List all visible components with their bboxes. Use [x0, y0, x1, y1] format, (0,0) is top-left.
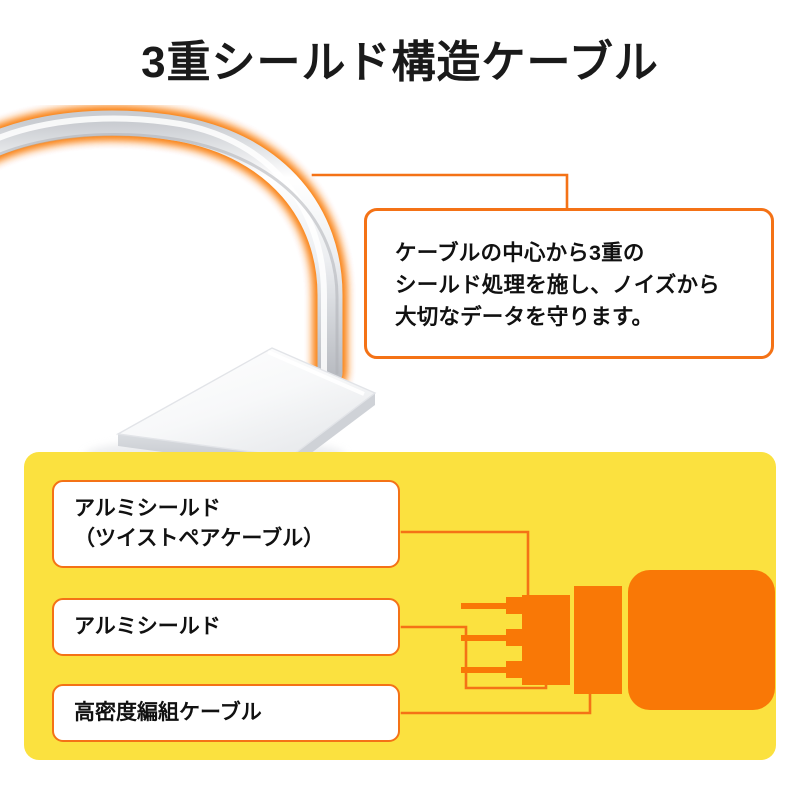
shield-layer-2: [574, 586, 622, 694]
label-box-aluminium-shield-twisted-pair[interactable]: アルミシールド （ツイストペアケーブル）: [52, 480, 400, 568]
shield-layer-1: [522, 595, 570, 685]
callout-line-1: ケーブルの中心から3重の: [395, 237, 771, 269]
callout-line-2: シールド処理を施し、ノイズから: [395, 269, 771, 301]
page-title: 3重シールド構造ケーブル: [0, 26, 800, 90]
label-box-aluminium-shield[interactable]: アルミシールド: [52, 598, 400, 656]
product-photo: [0, 105, 420, 465]
infographic-root: 3重シールド構造ケーブル: [0, 0, 800, 800]
label-line: アルミシールド: [74, 494, 398, 524]
callout-line-3: 大切なデータを守ります。: [395, 301, 771, 333]
callout-box: ケーブルの中心から3重の シールド処理を施し、ノイズから 大切なデータを守ります…: [364, 208, 774, 359]
label-line: アルミシールド: [74, 612, 398, 642]
cable-body: [0, 118, 337, 373]
leader-line-twisted-pair: [402, 532, 528, 604]
label-box-high-density-braided-cable[interactable]: 高密度編組ケーブル: [52, 684, 400, 742]
label-line: （ツイストペアケーブル）: [74, 524, 398, 554]
label-line: 高密度編組ケーブル: [74, 698, 398, 728]
outer-jacket: [628, 570, 775, 710]
